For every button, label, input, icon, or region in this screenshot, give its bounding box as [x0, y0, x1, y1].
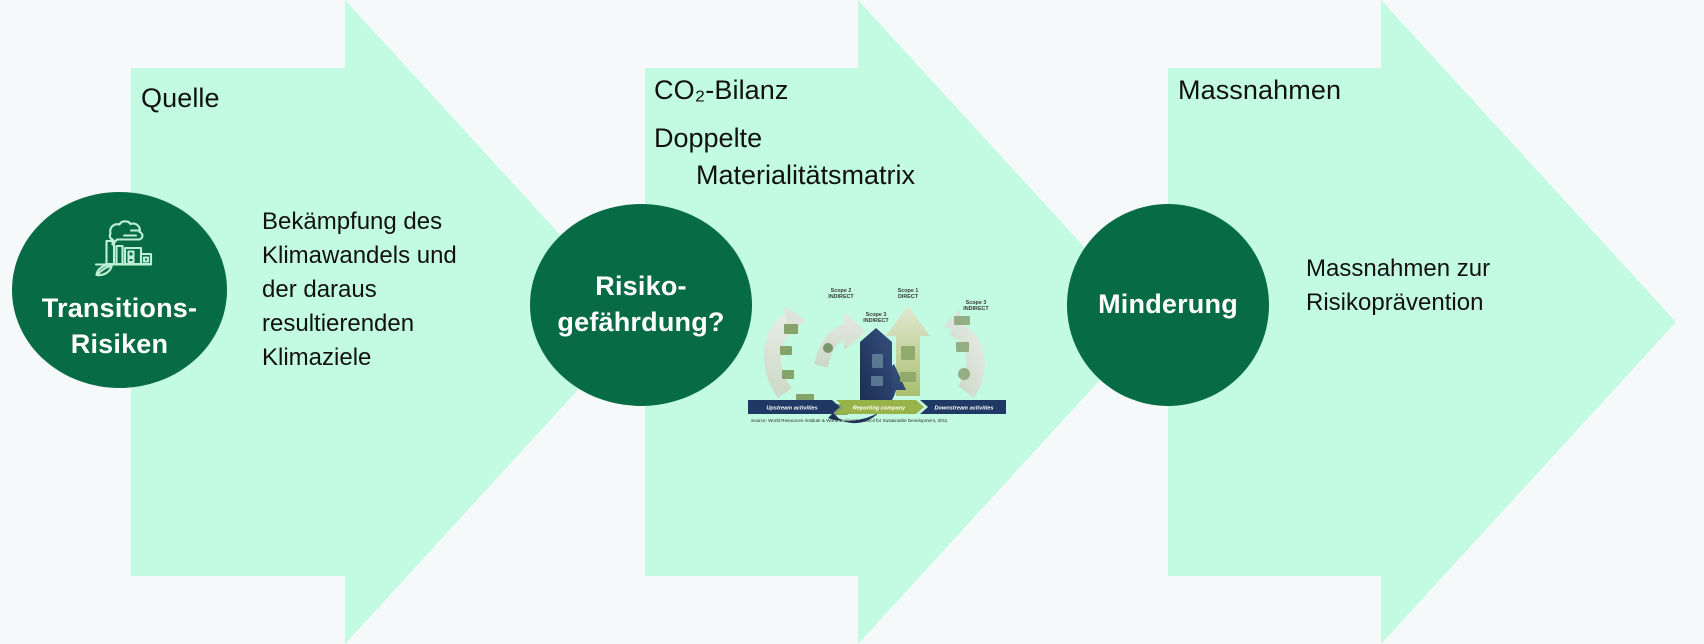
- sublabel-line-1: Doppelte: [654, 123, 762, 153]
- ghg-bottom-bar: Upstream activities Reporting company Do…: [748, 400, 1006, 414]
- stage-label-massnahmen: Massnahmen: [1178, 75, 1341, 106]
- process-diagram: Quelle: [0, 0, 1704, 644]
- circle-line-1: Risiko-: [595, 271, 686, 301]
- stage-circle-text-minderung: Minderung: [1098, 287, 1238, 323]
- factory-cloud-leaf-icon: [87, 218, 153, 283]
- svg-text:Reporting company: Reporting company: [853, 406, 906, 412]
- sublabel-line-2: Materialitätsmatrix: [654, 157, 974, 194]
- ghg-source-caption: Source: World Resources Institute & Worl…: [751, 418, 1009, 424]
- circle-line-2: gefährdung?: [557, 305, 724, 341]
- svg-text:INDIRECT: INDIRECT: [828, 294, 854, 300]
- stage-circle-text-transitionsrisiken: Transitions- Risiken: [42, 291, 197, 362]
- svg-text:INDIRECT: INDIRECT: [963, 306, 989, 312]
- svg-text:INDIRECT: INDIRECT: [863, 318, 889, 324]
- stage-label-quelle: Quelle: [141, 83, 220, 114]
- stage-circle-text-risikogefaehrdung: Risiko- gefährdung?: [557, 269, 724, 340]
- stage-circle-risikogefaehrdung[interactable]: Risiko- gefährdung?: [530, 204, 752, 406]
- circle-line-1: Minderung: [1098, 289, 1238, 319]
- circle-line-2: Risiken: [42, 327, 197, 363]
- svg-text:Downstream activities: Downstream activities: [934, 406, 993, 412]
- stage-circle-minderung[interactable]: Minderung: [1067, 204, 1269, 406]
- circle-line-1: Transitions-: [42, 293, 197, 323]
- svg-text:Upstream activities: Upstream activities: [766, 406, 817, 412]
- stage-description-transitionsrisiken: Bekämpfung des Klimawandels und der dara…: [262, 205, 462, 375]
- stage-description-minderung: Massnahmen zur Risikoprävention: [1306, 252, 1506, 320]
- stage-circle-transitionsrisiken[interactable]: Transitions- Risiken: [12, 192, 227, 388]
- stage-label-co2bilanz: CO₂-Bilanz: [654, 75, 789, 106]
- stage-sublabel-materialitaetsmatrix: Doppelte Materialitätsmatrix: [654, 120, 974, 195]
- svg-text:DIRECT: DIRECT: [898, 294, 919, 300]
